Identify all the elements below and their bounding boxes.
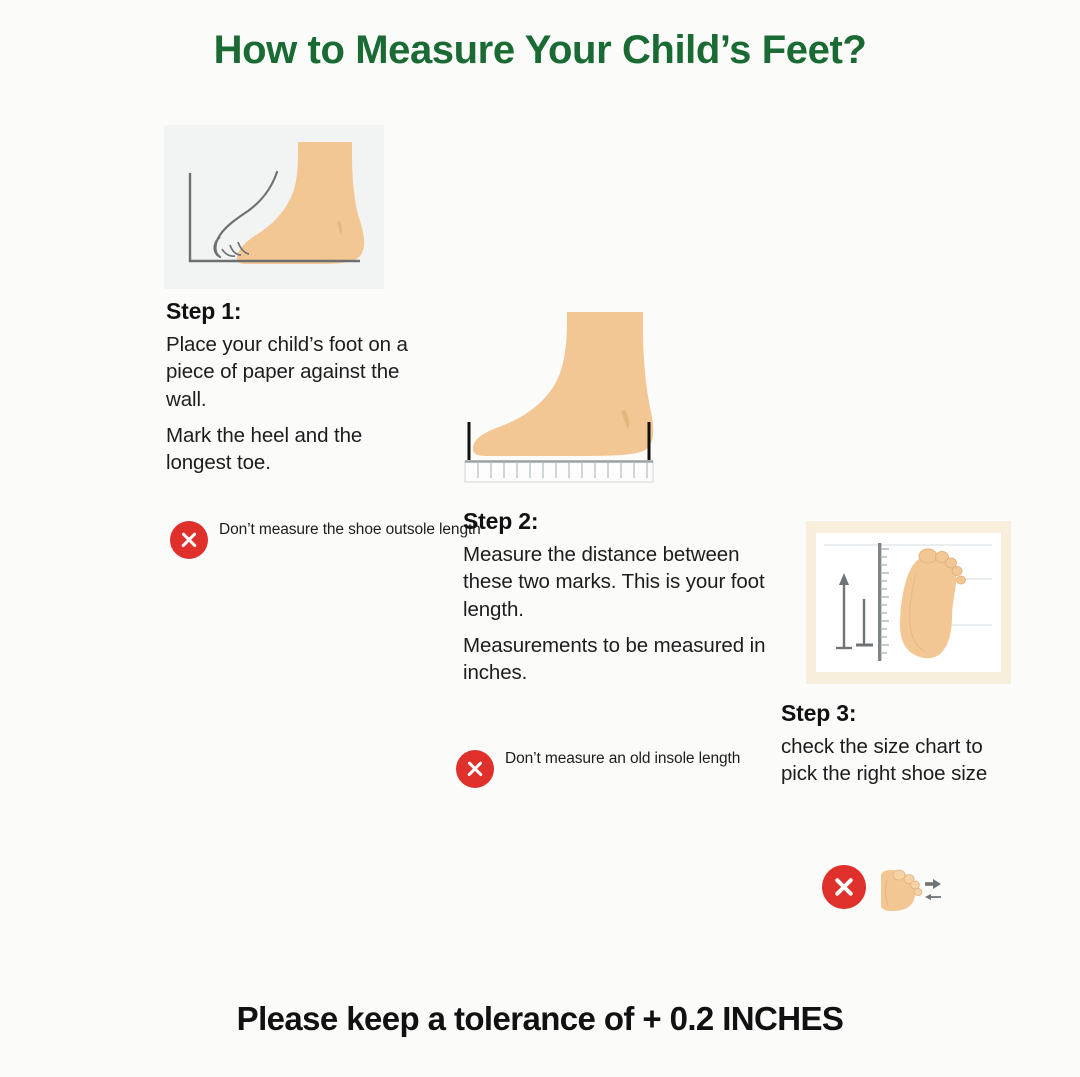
step-2-warning-text: Don’t measure an old insole length bbox=[505, 748, 740, 770]
red-x-circle-icon bbox=[822, 865, 866, 909]
step-3-heading: Step 3: bbox=[781, 700, 1021, 727]
foot-side-against-wall-icon bbox=[164, 125, 384, 289]
footprint-with-arrows-icon bbox=[877, 866, 943, 914]
red-x-circle-icon bbox=[456, 750, 494, 788]
step-3-warning bbox=[822, 865, 943, 914]
step-2-illustration bbox=[455, 300, 685, 485]
red-x-circle-icon bbox=[170, 521, 208, 559]
step-2-warning: Don’t measure an old insole length bbox=[456, 748, 740, 788]
step-1-warning: Don’t measure the shoe outsole length bbox=[170, 519, 481, 559]
step-3-illustration bbox=[806, 521, 1011, 684]
step-2-heading: Step 2: bbox=[463, 508, 783, 535]
infographic-root: How to Measure Your Child’s Feet? Step 1… bbox=[0, 0, 1080, 1077]
step-2-text: Step 2: Measure the distance between the… bbox=[463, 508, 783, 686]
step-1-line-2: Mark the heel and the longest toe. bbox=[166, 422, 416, 477]
step-3-line-1: check the size chart to pick the right s… bbox=[781, 733, 1021, 788]
step-1-heading: Step 1: bbox=[166, 298, 416, 325]
step-2-line-1: Measure the distance between these two m… bbox=[463, 541, 783, 623]
step-1-text: Step 1: Place your child’s foot on a pie… bbox=[166, 298, 416, 476]
footprint-measure-chart-icon bbox=[816, 533, 1001, 672]
step-1-illustration bbox=[164, 125, 384, 289]
tolerance-note: Please keep a tolerance of + 0.2 INCHES bbox=[0, 1000, 1080, 1038]
step-1-warning-text: Don’t measure the shoe outsole length bbox=[219, 519, 481, 541]
step-1-line-1: Place your child’s foot on a piece of pa… bbox=[166, 331, 416, 413]
page-title: How to Measure Your Child’s Feet? bbox=[0, 28, 1080, 73]
foot-on-ruler-icon bbox=[455, 300, 685, 485]
step-2-line-2: Measurements to be measured in inches. bbox=[463, 632, 783, 687]
step-3-text: Step 3: check the size chart to pick the… bbox=[781, 700, 1021, 788]
